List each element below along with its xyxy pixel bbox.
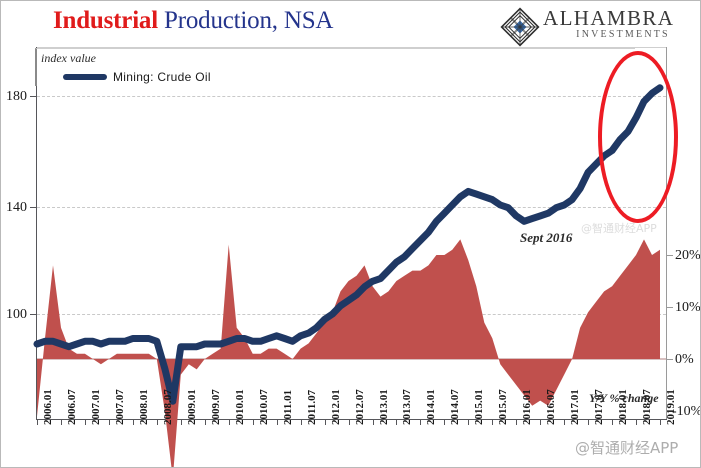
x-axis-label: 2013.07 [401,389,413,425]
x-axis-label: 2006.01 [42,389,54,425]
legend-swatch-mining-crude-oil [63,74,107,80]
x-axis-label: 2016.07 [545,389,557,425]
x-tick [109,419,110,425]
x-axis-label: 2011.01 [282,390,294,425]
x-axis-label: 2017.07 [593,389,605,425]
x-axis-label: 2007.01 [90,389,102,425]
x-tick [181,419,182,425]
x-tick [205,419,206,425]
x-axis-label: 2008.01 [138,389,150,425]
x-axis-label: 2007.07 [114,389,126,425]
x-axis-label: 2014.07 [449,389,461,425]
x-tick [612,419,613,425]
x-tick [229,419,230,425]
x-tick [301,419,302,425]
x-tick [325,419,326,425]
x-axis-label: 2017.01 [569,389,581,425]
x-tick [420,419,421,425]
x-tick [253,419,254,425]
chart-screenshot: Industrial Production, NSA [0,0,701,468]
x-axis-label: 2011.07 [306,390,318,425]
x-tick [516,419,517,425]
x-axis-label: 2009.07 [210,389,222,425]
x-axis-label: 2015.07 [497,389,509,425]
x-tick [492,419,493,425]
x-tick [468,419,469,425]
x-tick [444,419,445,425]
x-tick [636,419,637,425]
x-tick [133,419,134,425]
x-axis-label: 2009.01 [186,389,198,425]
annotation-sept-2016: Sept 2016 [520,230,572,246]
legend-label-mining-crude-oil: Mining: Crude Oil [113,70,211,84]
x-axis-label: 2015.01 [473,389,485,425]
x-tick [61,419,62,425]
x-tick [157,419,158,425]
x-axis-label: 2016.01 [521,389,533,425]
x-tick [277,419,278,425]
x-tick [588,419,589,425]
x-tick [85,419,86,425]
x-axis-label: 2013.01 [378,389,390,425]
x-axis-label: 2019.01 [665,389,677,425]
x-tick [660,419,661,425]
x-axis-label: 2018.01 [617,389,629,425]
x-tick [373,419,374,425]
highlight-ellipse-icon [598,51,678,223]
x-tick [396,419,397,425]
x-axis-label: 2006.07 [66,389,78,425]
x-axis-label: 2008.07 [162,389,174,425]
x-tick [564,419,565,425]
x-tick [37,419,38,425]
y-axis-title: index value [41,51,96,66]
area-series-yy-change [37,239,660,468]
x-axis-label: 2010.01 [234,389,246,425]
x-tick [540,419,541,425]
x-tick [349,419,350,425]
x-axis-label: 2014.01 [425,389,437,425]
x-axis-label: 2012.07 [354,389,366,425]
x-axis-label: 2018.07 [641,389,653,425]
x-axis-label: 2010.07 [258,389,270,425]
legend[interactable]: Mining: Crude Oil [63,69,211,85]
x-axis-label: 2012.01 [330,389,342,425]
